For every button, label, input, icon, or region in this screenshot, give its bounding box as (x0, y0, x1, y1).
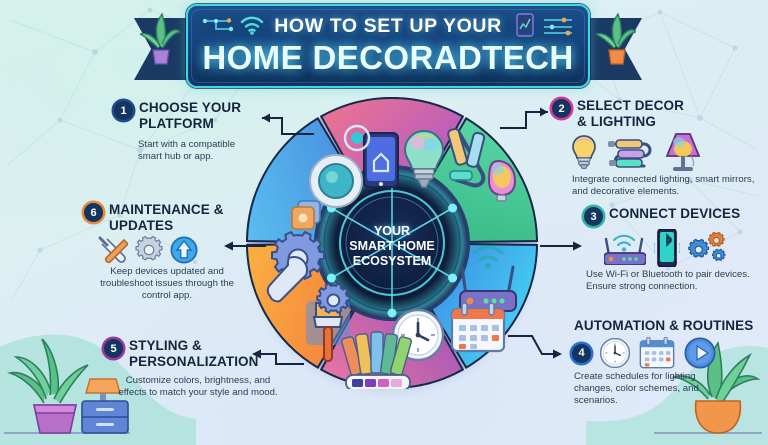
step-6-header: 6 MAINTENANCE & UPDATES (84, 202, 256, 233)
step-2-icons (572, 132, 758, 172)
step-1-badge: 1 (114, 101, 133, 120)
step-3-header: 3 CONNECT DEVICES (584, 206, 768, 226)
title-banner: HOW TO SET UP YOUR HOME DECORADTECH (186, 4, 590, 88)
calendar-icon (639, 337, 675, 369)
arrow-step-4 (508, 332, 570, 362)
step-3-icons (604, 229, 768, 267)
step-5-desc: Customize colors, brightness, and effect… (118, 375, 278, 399)
gear-icon (135, 236, 163, 264)
step-4[interactable]: AUTOMATION & ROUTINES 4 (572, 318, 768, 407)
step-6-title: MAINTENANCE & UPDATES (109, 202, 256, 233)
step-1[interactable]: 1 CHOOSE YOUR PLATFORM Start with a comp… (114, 100, 254, 163)
step-2-badge: 2 (552, 99, 571, 118)
calendar-icon (452, 303, 504, 351)
step-6-icons (98, 236, 256, 264)
color-palette-icon (341, 332, 412, 389)
arrow-step-2 (500, 104, 558, 130)
router-icon (604, 231, 646, 265)
step-6-badge: 6 (84, 203, 103, 222)
play-button-icon[interactable] (684, 337, 716, 369)
gear-small-icon (317, 284, 349, 313)
table-lamp-icon (664, 132, 702, 172)
step-4-badge: 4 (572, 344, 591, 363)
hub-line3: ECOSYSTEM (353, 254, 432, 268)
banner-title-line2: HOME DECORADTECH (188, 39, 588, 77)
update-arrow-icon (170, 236, 198, 264)
step-5-title: STYLING & PERSONALIZATION (129, 338, 279, 369)
step-3-title: CONNECT DEVICES (609, 206, 740, 222)
step-5-badge: 5 (104, 339, 123, 358)
step-3-desc: Use Wi-Fi or Bluetooth to pair devices. … (586, 269, 768, 293)
step-2[interactable]: 2 SELECT DECOR & LIGHTING (552, 98, 758, 198)
infographic-canvas: HOW TO SET UP YOUR HOME DECORADTECH (0, 0, 768, 445)
banner-plant-right (596, 10, 636, 66)
step-5[interactable]: 5 STYLING & PERSONALIZATION Customize co… (104, 338, 282, 399)
gears-icon (688, 231, 726, 265)
step-6[interactable]: 6 MAINTENANCE & UPDATES Keep devices upd… (84, 202, 256, 303)
step-1-header: 1 CHOOSE YOUR PLATFORM (114, 100, 254, 131)
step-4-icons: 4 (572, 337, 768, 369)
step-2-desc: Integrate connected lighting, smart mirr… (572, 174, 762, 198)
hub-line1: YOUR (374, 224, 410, 238)
arrow-step-3 (540, 240, 590, 252)
step-3-badge: 3 (584, 207, 603, 226)
step-2-header: 2 SELECT DECOR & LIGHTING (552, 98, 758, 129)
step-1-desc: Start with a compatible smart hub or app… (138, 139, 248, 163)
step-4-title: AUTOMATION & ROUTINES (574, 318, 768, 334)
banner-title-line1: HOW TO SET UP YOUR (188, 15, 588, 38)
step-2-title: SELECT DECOR & LIGHTING (577, 98, 695, 129)
step-6-desc: Keep devices updated and troubleshoot is… (88, 266, 246, 303)
bluetooth-phone-icon (654, 229, 680, 267)
clock-icon (600, 338, 630, 368)
step-1-title: CHOOSE YOUR PLATFORM (139, 100, 254, 131)
arrow-step-1 (252, 110, 314, 136)
step-4-desc: Create schedules for lighting changes, c… (574, 371, 720, 408)
lightbulb-icon (572, 135, 596, 169)
step-3[interactable]: 3 CONNECT DEVICES (584, 206, 768, 293)
wrench-screwdriver-icon (98, 236, 128, 264)
step-5-header: 5 STYLING & PERSONALIZATION (104, 338, 282, 369)
smart-speaker-icon (310, 155, 362, 207)
hub-line2: SMART HOME (349, 239, 434, 253)
banner-plant-left (140, 10, 180, 66)
led-strip-icon (608, 136, 652, 168)
